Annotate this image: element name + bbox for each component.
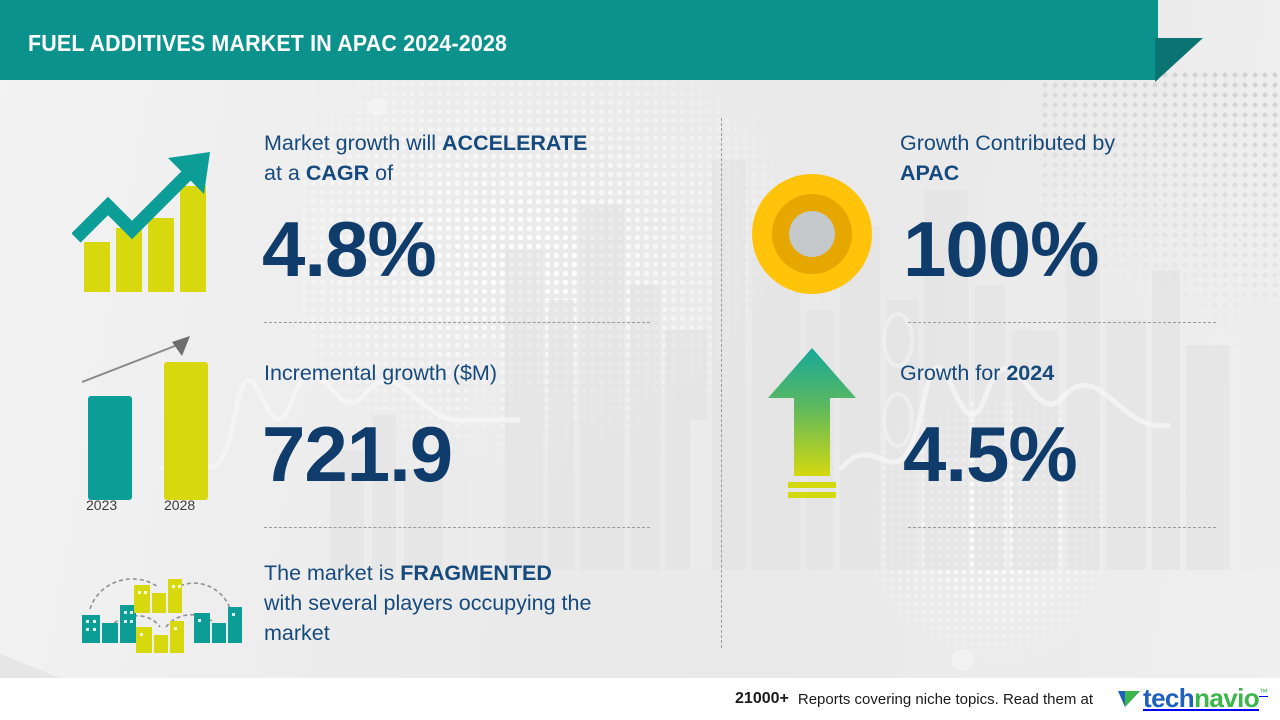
footer-content: 21000+ Reports covering niche topics. Re… xyxy=(735,685,1280,713)
fragmentation-bold: FRAGMENTED xyxy=(400,561,552,585)
cagr-label-line2-post: of xyxy=(369,161,393,185)
contribution-apac: APAC xyxy=(900,161,959,185)
growth-year-bold: 2024 xyxy=(1006,361,1054,385)
concentric-donut-icon xyxy=(750,172,874,296)
divider-right-1 xyxy=(908,322,1216,323)
technavio-arrow-icon xyxy=(1116,687,1142,713)
column-divider xyxy=(721,118,722,648)
header-fold-corner-icon xyxy=(1155,38,1203,86)
growth-year-value: 4.5% xyxy=(903,415,1077,493)
growth-bar-chart-arrow-icon xyxy=(72,148,232,298)
connected-city-clusters-icon xyxy=(74,565,246,657)
page-title: FUEL ADDITIVES MARKET IN APAC 2024-2028 xyxy=(28,30,507,57)
logo-part-navio: navio xyxy=(1194,683,1259,713)
divider-right-2 xyxy=(908,527,1216,528)
fragmentation-line3: market xyxy=(264,621,330,645)
two-bar-comparison-icon xyxy=(72,330,232,500)
cagr-label-accelerate: ACCELERATE xyxy=(442,131,587,155)
contribution-line1: Growth Contributed by xyxy=(900,131,1115,155)
cagr-label-line2-pre: at a xyxy=(264,161,306,185)
divider-left-2 xyxy=(264,527,650,528)
header-bar: FUEL ADDITIVES MARKET IN APAC 2024-2028 xyxy=(0,0,1158,80)
incremental-bar-label-2023: 2023 xyxy=(86,497,117,513)
logo-part-tech: tech xyxy=(1143,683,1194,713)
divider-left-1 xyxy=(264,322,650,323)
fragmentation-line1-pre: The market is xyxy=(264,561,400,585)
growth-year-label: Growth for 2024 xyxy=(900,358,1054,388)
incremental-label: Incremental growth ($M) xyxy=(264,358,497,388)
footer-corner-accent xyxy=(0,650,60,678)
footer-bar: 21000+ Reports covering niche topics. Re… xyxy=(0,678,1280,720)
incremental-bar-label-2028: 2028 xyxy=(164,497,195,513)
growth-year-label-pre: Growth for xyxy=(900,361,1006,385)
cagr-label: Market growth will ACCELERATE at a CAGR … xyxy=(264,128,664,188)
contribution-label: Growth Contributed by APAC xyxy=(900,128,1220,188)
footer-report-count: 21000+ xyxy=(735,690,789,708)
gradient-up-arrow-icon xyxy=(766,346,858,504)
cagr-label-line1-pre: Market growth will xyxy=(264,131,442,155)
trademark-symbol: ™ xyxy=(1259,687,1268,697)
cagr-label-cagr: CAGR xyxy=(306,161,369,185)
fragmentation-label: The market is FRAGMENTED with several pl… xyxy=(264,558,684,648)
cagr-value: 4.8% xyxy=(262,210,436,288)
incremental-value: 721.9 xyxy=(262,415,452,493)
technavio-logo[interactable]: technavio ™ xyxy=(1116,685,1268,713)
fragmentation-line2: with several players occupying the xyxy=(264,591,591,615)
contribution-value: 100% xyxy=(903,210,1099,288)
technavio-wordmark: technavio xyxy=(1143,685,1259,711)
footer-tagline: Reports covering niche topics. Read them… xyxy=(798,691,1093,708)
